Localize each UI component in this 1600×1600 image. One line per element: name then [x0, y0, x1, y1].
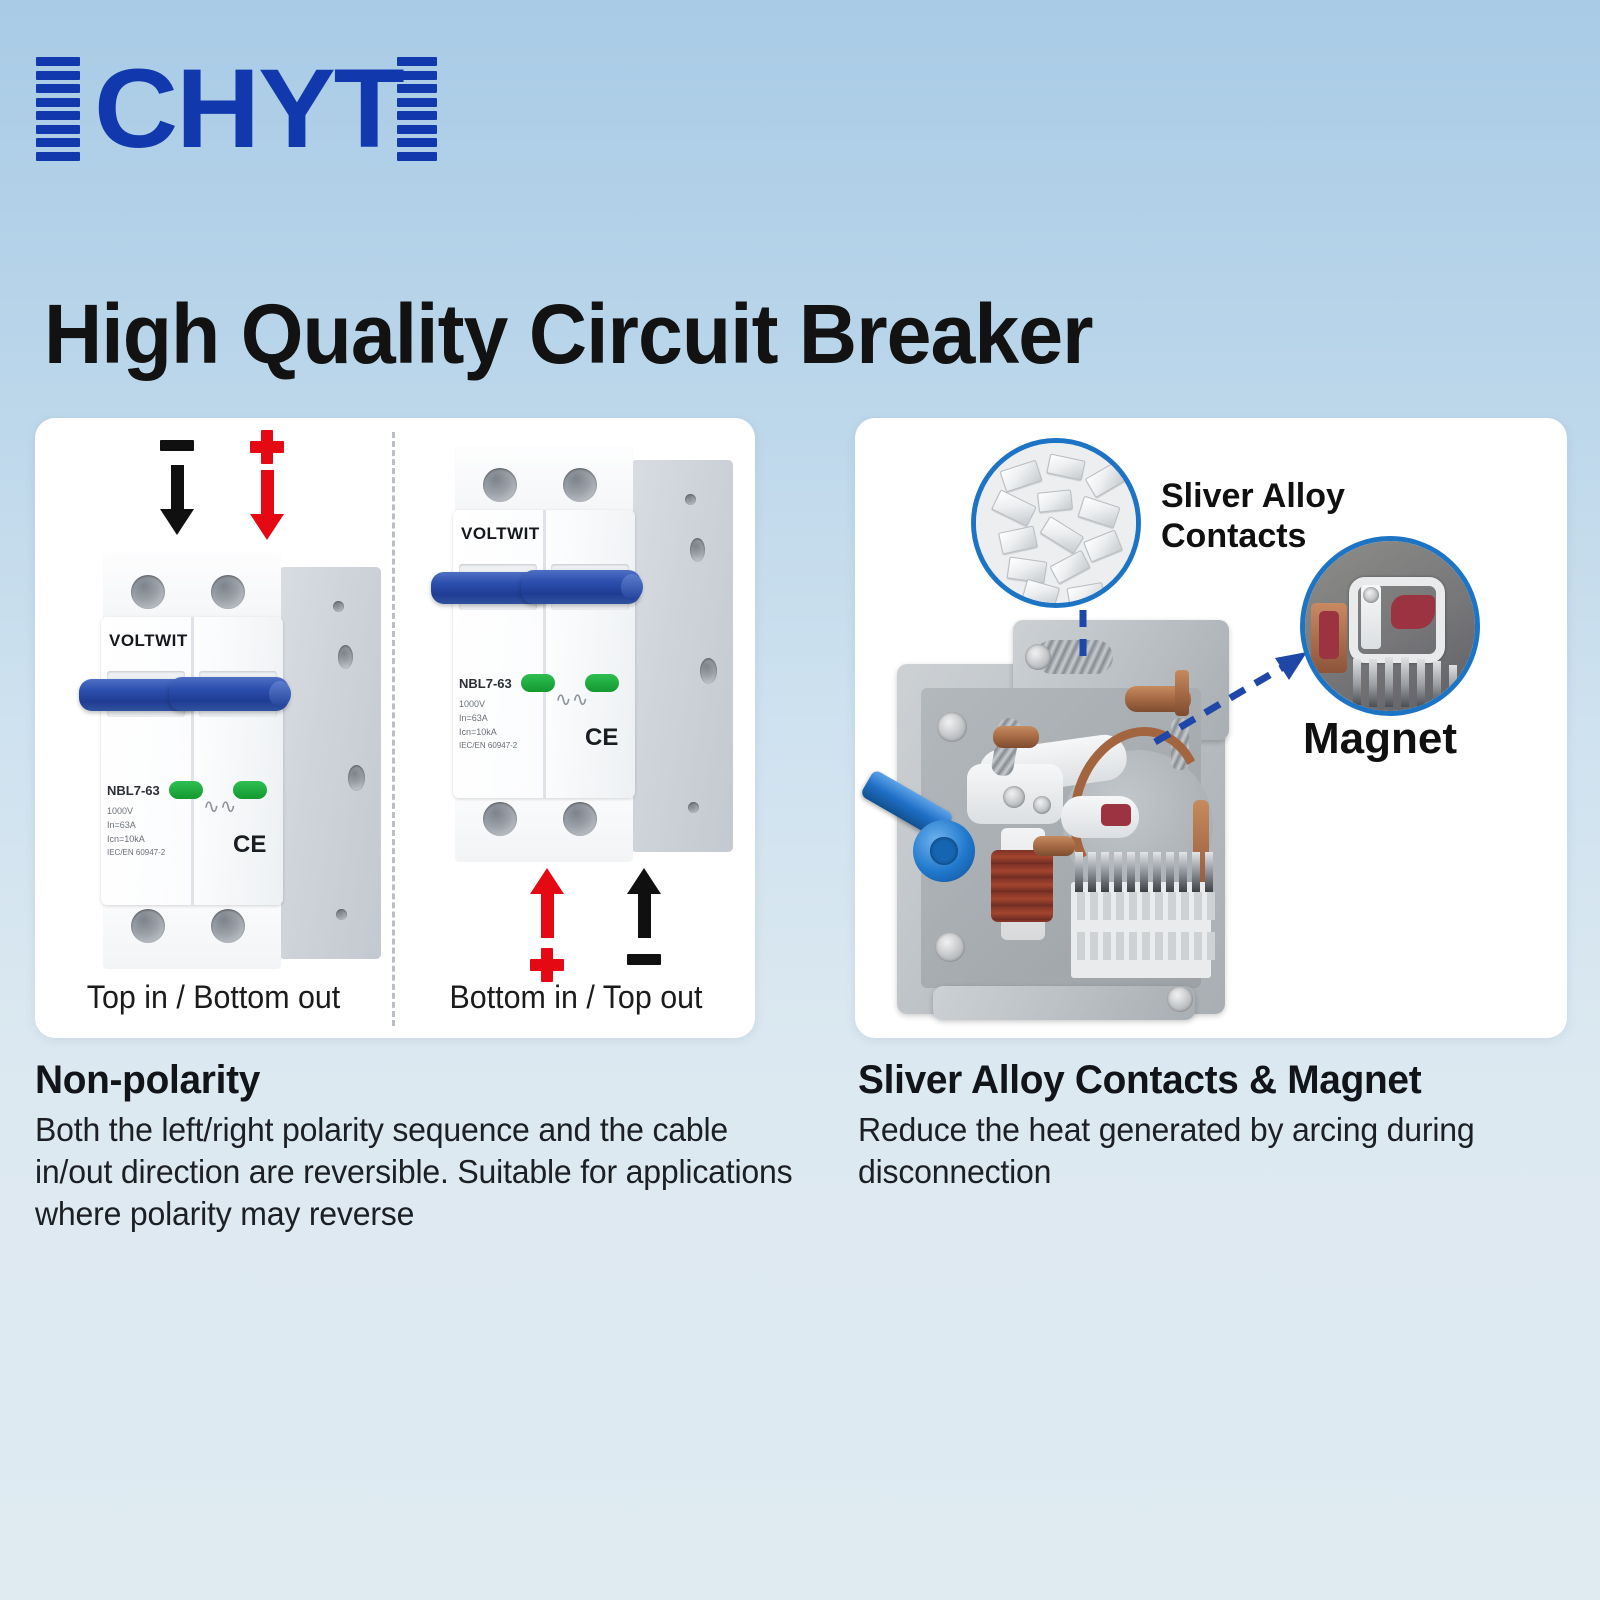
feature-body-non-polarity: Both the left/right polarity sequence an… — [35, 1109, 801, 1236]
breaker-spec-line-2b: In=63A — [459, 712, 488, 726]
brand-logo: CHYT — [36, 50, 441, 168]
breaker-unit-bottom-in: VOLTWIT NBL7-63 1000V In=63A Icn=10kA IE… — [435, 446, 735, 866]
breaker-spec-line-3b: Icn=10kA — [459, 726, 497, 740]
feature-heading-non-polarity: Non-polarity — [35, 1058, 801, 1103]
internal-structure-card: Sliver Alloy Contacts Magnet — [855, 418, 1567, 1038]
breaker-spec-line-4b: IEC/EN 60947-2 — [459, 740, 517, 752]
feature-block-sliver-alloy: Sliver Alloy Contacts & Magnet Reduce th… — [858, 1058, 1578, 1193]
non-polarity-illustration-card: VOLTWIT NBL7-63 1000V In=63A Icn=10kA IE… — [35, 418, 755, 1038]
breaker-unit-top-in: VOLTWIT NBL7-63 1000V In=63A Icn=10kA IE… — [83, 553, 383, 973]
minus-sign-icon — [160, 440, 194, 451]
minus-sign-icon-2 — [627, 954, 661, 965]
breaker-brand-label: VOLTWIT — [109, 631, 188, 651]
arrow-down-icon — [250, 514, 284, 540]
plus-sign-icon-2 — [530, 948, 564, 982]
breaker-status-indicator-2 — [233, 781, 267, 799]
breaker-model-label: NBL7-63 — [107, 783, 160, 798]
polarity-marker-positive-up — [530, 868, 564, 982]
breaker-model-label-2: NBL7-63 — [459, 676, 512, 691]
caption-bottom-in-top-out: Bottom in / Top out — [406, 979, 746, 1016]
polarity-marker-positive-down — [250, 430, 284, 540]
breaker-spec-line-1b: 1000V — [459, 698, 485, 712]
feature-block-non-polarity: Non-polarity Both the left/right polarit… — [35, 1058, 825, 1236]
caption-top-in-bottom-out: Top in / Bottom out — [44, 979, 383, 1016]
breaker-wiring-diagram-icon-2: ∿∿ — [555, 690, 589, 710]
logo-bar-pattern-right-icon — [397, 57, 441, 161]
arrow-up-icon — [530, 868, 564, 894]
magnet-inset — [1300, 536, 1480, 716]
breaker-status-indicator — [169, 781, 203, 799]
magnet-label: Magnet — [1303, 714, 1457, 764]
breaker-ce-mark: CE — [233, 831, 266, 859]
sliver-alloy-contacts-inset — [971, 438, 1141, 608]
arrow-shaft — [541, 894, 554, 938]
breaker-spec-line-3: Icn=10kA — [107, 833, 145, 847]
plus-sign-icon — [250, 430, 284, 464]
arrow-shaft — [638, 894, 651, 938]
breaker-brand-label-2: VOLTWIT — [461, 524, 540, 544]
breaker-wiring-diagram-icon: ∿∿ — [203, 797, 237, 817]
card-divider — [392, 432, 395, 1026]
feature-body-sliver-alloy: Reduce the heat generated by arcing duri… — [858, 1109, 1556, 1193]
arrow-up-icon-2 — [627, 868, 661, 894]
logo-wordmark: CHYT — [94, 57, 403, 161]
breaker-ce-mark-2: CE — [585, 724, 618, 752]
breaker-status-indicator-3 — [521, 674, 555, 692]
polarity-marker-negative-down — [160, 440, 194, 535]
arrow-shaft — [261, 470, 274, 514]
breaker-spec-line-4: IEC/EN 60947-2 — [107, 847, 165, 859]
polarity-marker-negative-up — [627, 868, 661, 965]
breaker-status-indicator-4 — [585, 674, 619, 692]
breaker-spec-line-2: In=63A — [107, 819, 136, 833]
logo-bar-pattern-left-icon — [36, 57, 84, 161]
breaker-spec-line-1: 1000V — [107, 805, 133, 819]
feature-heading-sliver-alloy: Sliver Alloy Contacts & Magnet — [858, 1058, 1556, 1103]
arrow-shaft — [171, 465, 184, 509]
page-title: High Quality Circuit Breaker — [44, 286, 1093, 383]
arrow-down-icon — [160, 509, 194, 535]
